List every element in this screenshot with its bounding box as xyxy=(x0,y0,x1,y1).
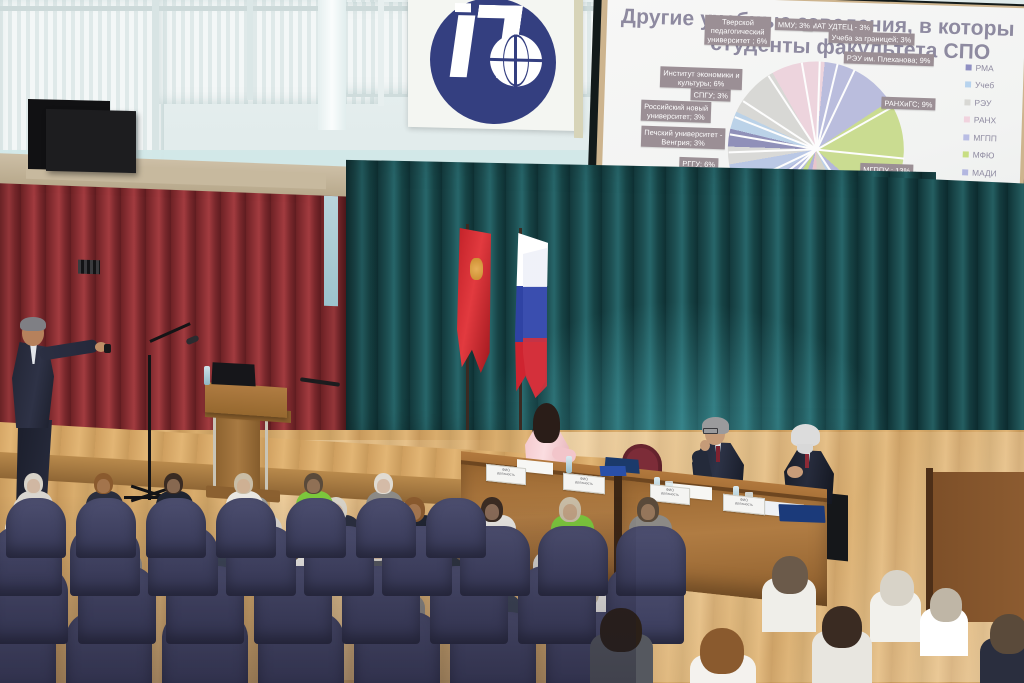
ito-logo-banner xyxy=(408,0,582,131)
legend-swatch-icon xyxy=(964,117,970,123)
audience-person-face xyxy=(27,479,40,493)
slide-title: Другие учебные заведения, в которы студе… xyxy=(620,5,1024,65)
legend-swatch-icon xyxy=(964,99,970,105)
audience-person-head xyxy=(700,628,744,674)
window-frame-vertical-1 xyxy=(152,0,159,174)
pie-label-мму: ММУ; 3% xyxy=(775,18,813,31)
pie-label-печский-университет-венгрия: Печский университет - Венгрия; 3% xyxy=(641,126,726,150)
projector-unit xyxy=(46,109,136,173)
presenter-hair xyxy=(20,317,46,331)
audience-person-head xyxy=(930,588,962,622)
window-strip-3 xyxy=(324,196,338,306)
banner-right-edge xyxy=(574,0,583,138)
audience-person-face xyxy=(641,504,656,520)
panelist-2-hand xyxy=(700,440,710,451)
legend-label: МГПП xyxy=(973,132,997,143)
audience-shadow-overlay xyxy=(0,496,636,683)
table-folder-blue-small xyxy=(600,466,627,476)
pie-label-ранхигс: РАНХиГС; 9% xyxy=(881,97,935,111)
presentation-clicker xyxy=(104,344,111,353)
microphone-stand-pole xyxy=(148,355,151,500)
pie-label-спгу: СПГУ; 3% xyxy=(690,88,731,101)
podium-leg-right xyxy=(265,416,268,494)
audience-person-head xyxy=(822,606,862,648)
red-regional-flag xyxy=(457,228,491,373)
legend-label: РАНХ xyxy=(974,115,997,126)
legend-label: МФЮ xyxy=(973,150,995,161)
eyeglasses-icon xyxy=(703,428,718,434)
audience-person-face xyxy=(377,479,390,493)
podium-laptop xyxy=(211,362,255,386)
russian-tricolor-flag-fold xyxy=(523,248,547,398)
window-frame-vertical-3 xyxy=(378,0,384,106)
wooden-podium xyxy=(205,382,287,418)
legend-swatch-icon xyxy=(962,169,968,175)
water-bottle-1 xyxy=(566,456,572,473)
panelist-2-tie xyxy=(716,446,720,462)
table-folder-blue xyxy=(778,504,825,523)
panelist-3-beard xyxy=(797,444,813,454)
panelist-1-hair xyxy=(533,403,560,443)
legend-swatch-icon xyxy=(963,134,969,140)
logo-letter-i-dot xyxy=(455,3,471,12)
legend-swatch-icon xyxy=(963,152,969,158)
audience-person-face xyxy=(97,479,110,493)
panelist-3-hands xyxy=(787,466,803,478)
pie-label-рэу-им-плеханова: РЭУ им. Плеханова; 9% xyxy=(844,51,934,66)
podium-water-bottle xyxy=(204,366,210,385)
legend-label: РЭУ xyxy=(974,97,991,108)
legend-label: РМА xyxy=(975,62,993,73)
podium-leg-left xyxy=(213,414,216,492)
panelist-3-tie xyxy=(805,454,809,468)
audience-person-face xyxy=(237,479,250,493)
projector-vent xyxy=(78,260,100,275)
audience-person-face xyxy=(307,479,320,493)
pie-label-институт-экономики-и-культуры: Институт экономики и культуры; 6% xyxy=(660,66,743,90)
audience-person-head xyxy=(990,614,1024,654)
pie-label-российский-новый-университет: Российский новый университет; 3% xyxy=(641,100,712,123)
window-frame-vertical-2 xyxy=(247,0,253,100)
audience-person-head xyxy=(880,570,914,606)
globe-meridian-arc xyxy=(503,34,529,87)
audience-person-face xyxy=(167,479,180,493)
conference-hall-photo: Другие учебные заведения, в которы студе… xyxy=(0,0,1024,683)
legend-label: Учеб xyxy=(975,80,994,91)
flag-emblem xyxy=(470,258,483,280)
legend-swatch-icon xyxy=(966,64,972,70)
pie-label-тверской-педагогический-университет: Тверской педагогический университет ; 6% xyxy=(704,15,771,47)
legend-label: МАДИ xyxy=(972,167,997,178)
wall-pillar-left xyxy=(318,0,346,130)
audience-person-head xyxy=(772,556,808,594)
panelist-3-hair xyxy=(791,424,820,446)
legend-swatch-icon xyxy=(965,82,971,88)
